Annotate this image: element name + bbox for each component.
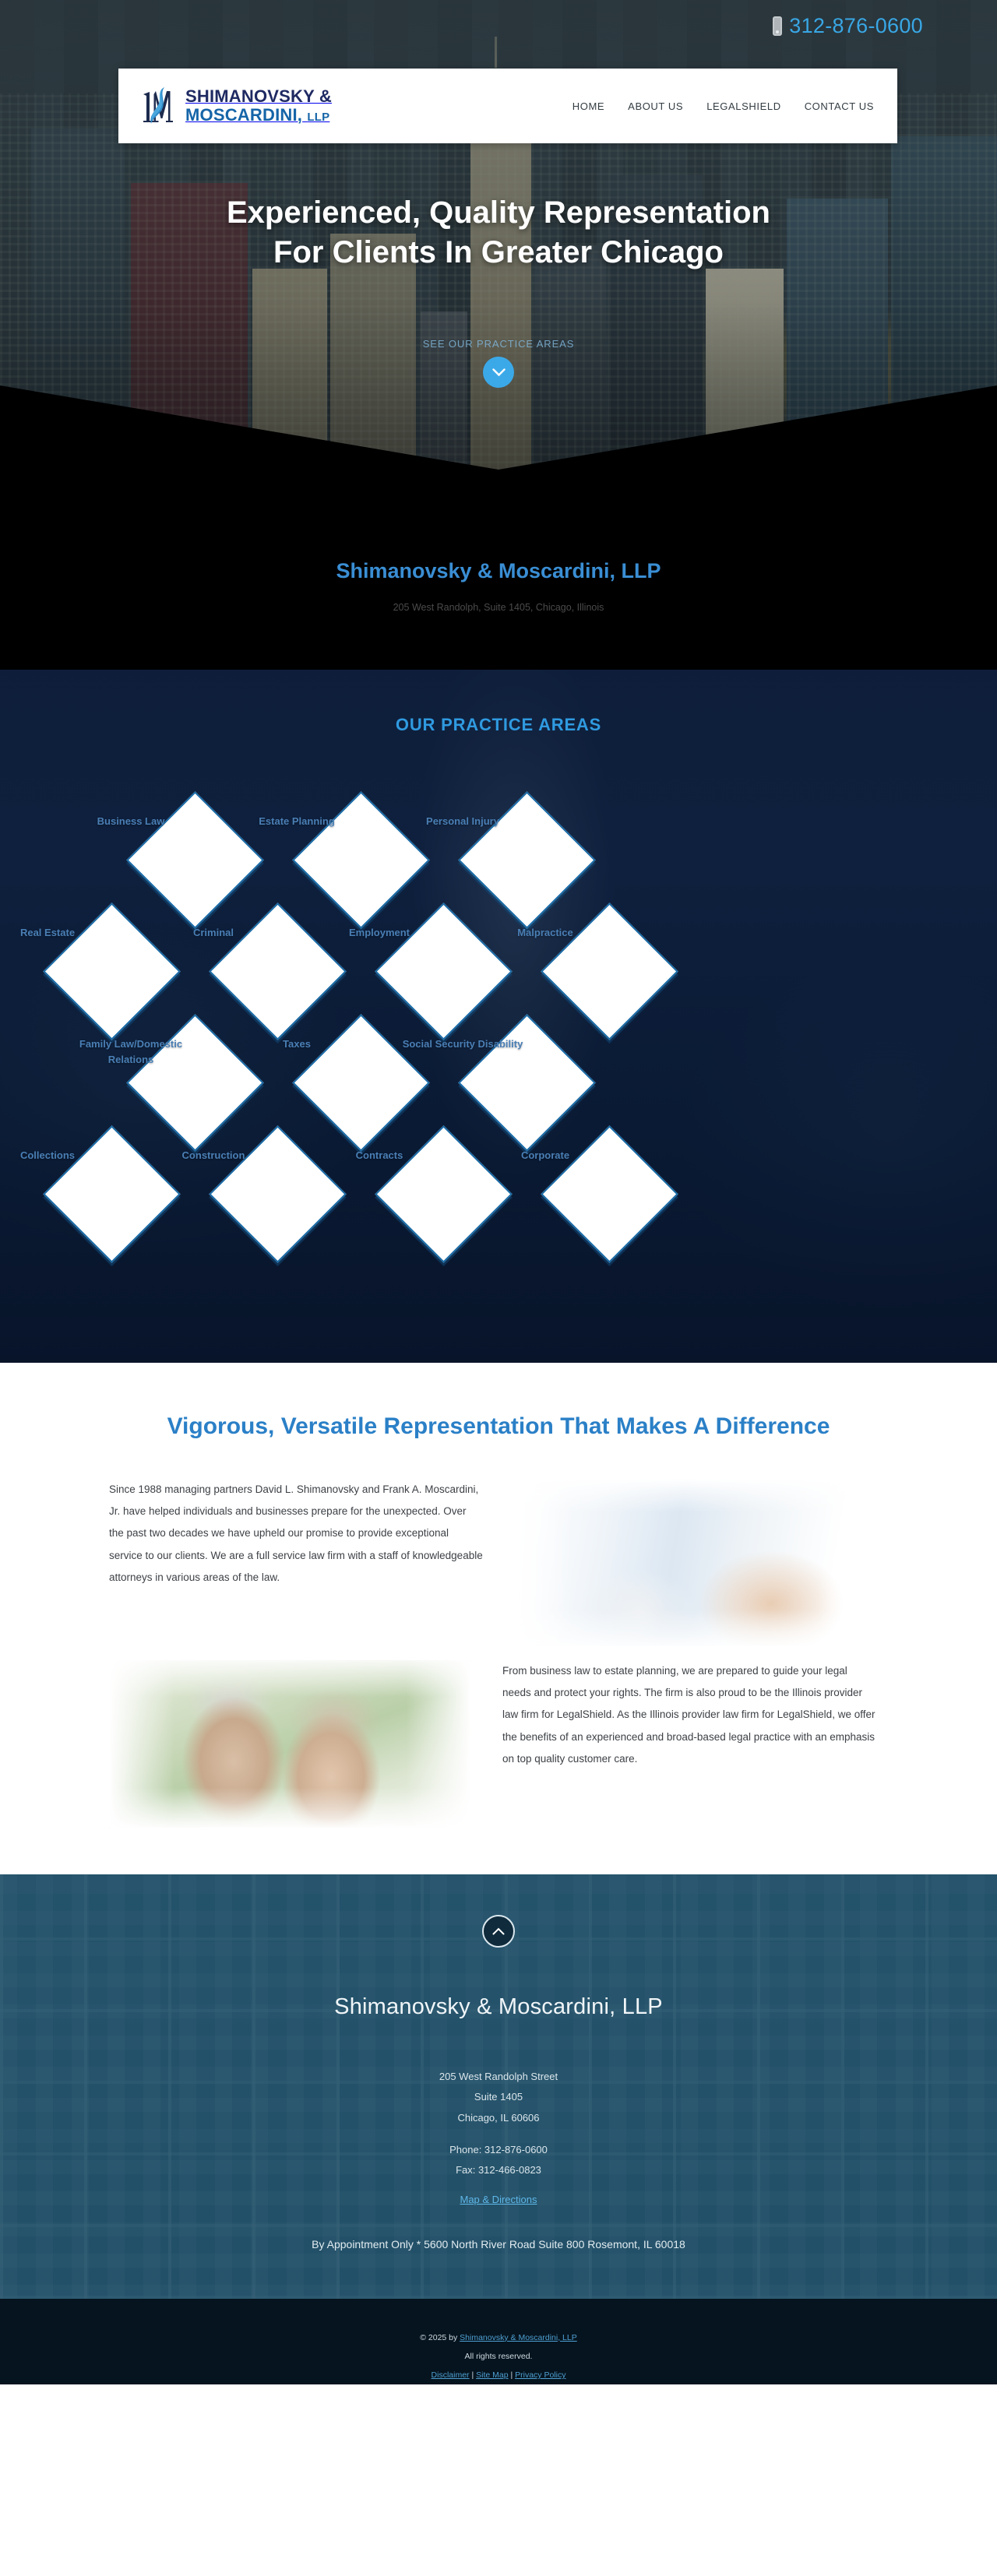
scroll-down-button[interactable] [483, 357, 514, 388]
logo-wordmark: SHIMANOVSKY & MOSCARDINI, LLP [185, 87, 332, 125]
footer-content: Shimanovsky & Moscardini, LLP 205 West R… [0, 1874, 997, 2250]
logo-line-2: MOSCARDINI, [185, 105, 302, 125]
sm-monogram-icon [140, 83, 174, 128]
practice-area-diamond-employment[interactable] [375, 903, 513, 1040]
legal-links: Disclaimer | Site Map | Privacy Policy [0, 2366, 997, 2384]
header-phone-link[interactable]: 312-876-0600 [773, 14, 923, 38]
practice-area-diamond-criminal[interactable] [209, 903, 347, 1040]
scroll-cue-label: SEE OUR PRACTICE AREAS [0, 338, 997, 350]
about-row-first: Since 1988 managing partners David L. Sh… [0, 1479, 997, 1646]
band-firm-name: Shimanovsky & Moscardini, LLP [336, 559, 661, 583]
about-row-second: From business law to estate planning, we… [0, 1660, 997, 1828]
privacy-policy-link[interactable]: Privacy Policy [515, 2370, 565, 2380]
legal-sep-1: | [470, 2370, 477, 2380]
logo-llp: LLP [307, 111, 329, 124]
copyright-bar: © 2025 by Shimanovsky & Moscardini, LLP … [0, 2299, 997, 2384]
copyright-firm-link[interactable]: Shimanovsky & Moscardini, LLP [460, 2333, 577, 2342]
footer-address-line-1: 205 West Randolph Street [0, 2067, 997, 2088]
mobile-phone-icon [773, 16, 782, 36]
office-consultation-photo [514, 1479, 876, 1646]
practice-area-diamond-corporate[interactable] [541, 1125, 678, 1263]
band-address: 205 West Randolph, Suite 1405, Chicago, … [393, 602, 604, 613]
map-and-directions-link[interactable]: Map & Directions [460, 2194, 537, 2205]
hero-headline: Experienced, Quality Representation For … [0, 193, 997, 273]
practice-area-diamond-taxes[interactable] [292, 1014, 430, 1152]
footer-contact: Phone: 312-876-0600 Fax: 312-466-0823 [0, 2140, 997, 2181]
hero-headline-line-1: Experienced, Quality Representation [227, 195, 770, 230]
practice-area-diamond-social-security-disability[interactable] [458, 1014, 596, 1152]
scroll-to-practice-areas: SEE OUR PRACTICE AREAS [0, 338, 997, 388]
practice-area-diamond-real-estate[interactable] [43, 903, 181, 1040]
firm-name-band: Shimanovsky & Moscardini, LLP 205 West R… [0, 502, 997, 670]
about-text-block-2: From business law to estate planning, we… [502, 1660, 876, 1771]
practice-area-diamond-construction[interactable] [209, 1125, 347, 1263]
about-section: Vigorous, Versatile Representation That … [0, 1363, 997, 1874]
nav-links: HOME ABOUT US LEGALSHIELD CONTACT US [572, 100, 883, 112]
site-footer: Shimanovsky & Moscardini, LLP 205 West R… [0, 1874, 997, 2299]
practice-area-diamond-collections[interactable] [43, 1125, 181, 1263]
footer-fax: Fax: 312-466-0823 [0, 2160, 997, 2181]
nav-item-legalshield[interactable]: LEGALSHIELD [706, 100, 780, 112]
practice-area-diamond-malpractice[interactable] [541, 903, 678, 1040]
about-paragraph-1: Since 1988 managing partners David L. Sh… [109, 1479, 483, 1589]
site-map-link[interactable]: Site Map [476, 2370, 508, 2380]
header-phone-bar: 312-876-0600 [0, 14, 997, 40]
about-text-block-1: Since 1988 managing partners David L. Sh… [109, 1479, 483, 1589]
practice-area-diamond-estate-planning[interactable] [292, 791, 430, 929]
practice-area-diamond-contracts[interactable] [375, 1125, 513, 1263]
hero-section: 312-876-0600 SHIMANOVSKY & MOSCARDINI, L… [0, 0, 997, 502]
nav-item-about-us[interactable]: ABOUT US [628, 100, 683, 112]
practice-area-diamond-family-law-domestic-relations[interactable] [126, 1014, 264, 1152]
nav-item-contact-us[interactable]: CONTACT US [805, 100, 874, 112]
footer-address-line-2: Suite 1405 [0, 2087, 997, 2108]
disclaimer-link[interactable]: Disclaimer [432, 2370, 470, 2380]
logo-line-1: SHIMANOVSKY & [185, 86, 332, 106]
practice-areas-title: OUR PRACTICE AREAS [0, 670, 997, 735]
practice-areas-section: OUR PRACTICE AREAS Business LawEstate Pl… [0, 670, 997, 1363]
senior-couple-photo [109, 1660, 471, 1828]
site-logo[interactable]: SHIMANOVSKY & MOSCARDINI, LLP [140, 83, 332, 128]
footer-firm-name: Shimanovsky & Moscardini, LLP [0, 1994, 997, 2020]
main-navigation-bar: SHIMANOVSKY & MOSCARDINI, LLP HOME ABOUT… [118, 69, 897, 143]
footer-address: 205 West Randolph Street Suite 1405 Chic… [0, 2067, 997, 2129]
hero-headline-line-2: For Clients In Greater Chicago [273, 235, 724, 269]
footer-appointment-note: By Appointment Only * 5600 North River R… [0, 2238, 997, 2250]
back-to-top-button[interactable] [482, 1915, 515, 1948]
legal-sep-2: | [509, 2370, 516, 2380]
about-paragraph-2: From business law to estate planning, we… [502, 1660, 876, 1771]
footer-address-line-3: Chicago, IL 60606 [0, 2108, 997, 2129]
header-phone-number: 312-876-0600 [789, 14, 923, 38]
nav-item-home[interactable]: HOME [572, 100, 604, 112]
chevron-up-icon [492, 1927, 505, 1935]
practice-area-diamond-personal-injury[interactable] [458, 791, 596, 929]
footer-phone: Phone: 312-876-0600 [0, 2140, 997, 2161]
all-rights-reserved: All rights reserved. [0, 2347, 997, 2366]
copyright-prefix: © 2025 by [420, 2333, 460, 2342]
copyright-line: © 2025 by Shimanovsky & Moscardini, LLP [0, 2328, 997, 2347]
practice-areas-grid: Business LawEstate PlanningPersonal Inju… [0, 735, 997, 1280]
practice-area-diamond-business-law[interactable] [126, 791, 264, 929]
about-heading: Vigorous, Versatile Representation That … [125, 1411, 872, 1443]
chevron-down-icon [492, 368, 506, 377]
